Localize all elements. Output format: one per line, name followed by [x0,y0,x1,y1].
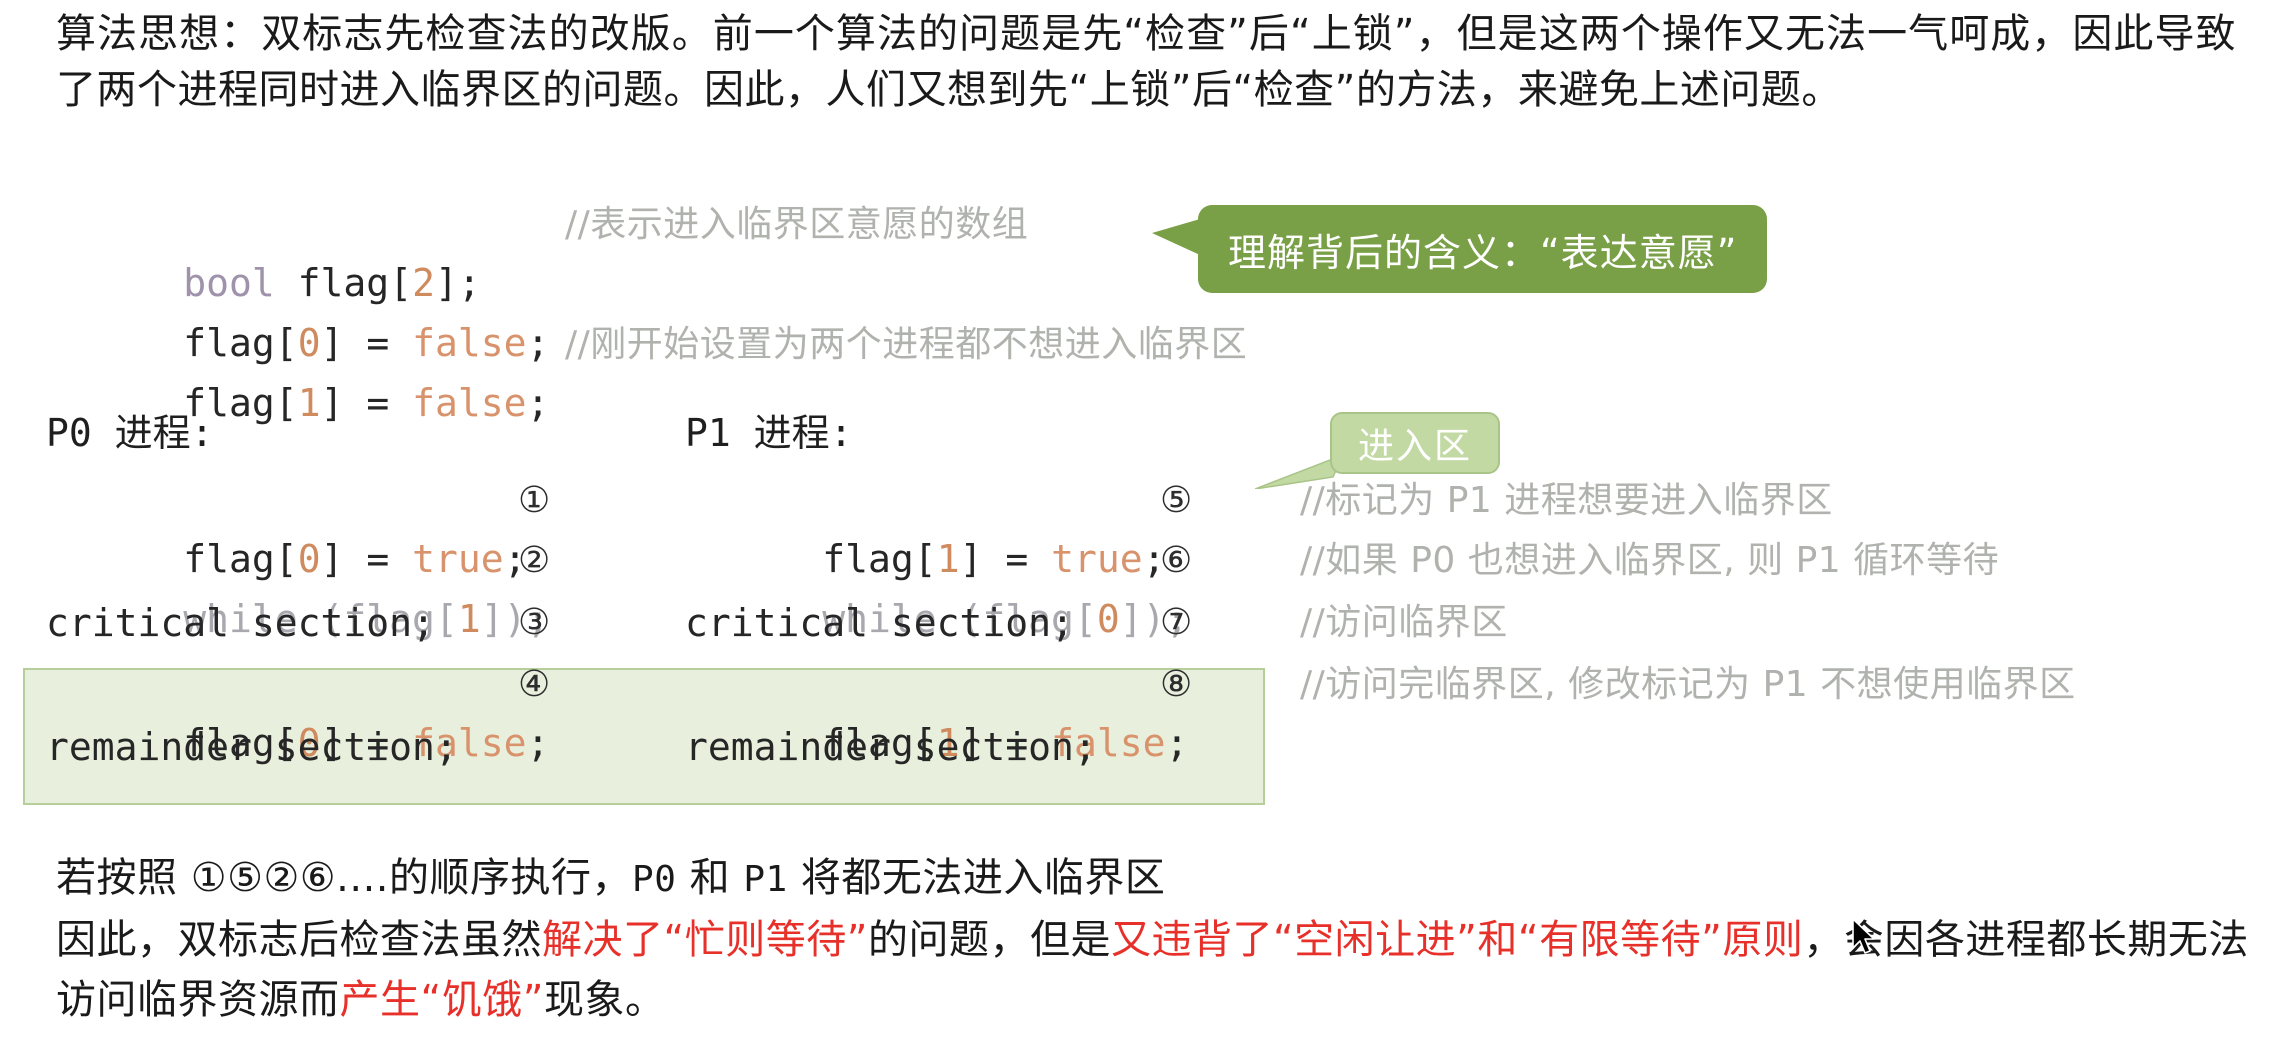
code-token: critical section; [46,594,435,652]
conclusion-line-2: 因此，双标志后检查法虽然解决了“忙则等待”的问题，但是又违背了“空闲让进”和“有… [56,910,2256,1030]
callout-meaning: 理解背后的含义：“表达意愿” [1198,205,1767,293]
intro-paragraph: 算法思想：双标志先检查法的改版。前一个算法的问题是先“检查”后“上锁”，但是这两… [56,6,2236,118]
step-number: ④ [518,656,550,714]
step-number: ① [518,472,550,530]
text-fragment: 和 [676,855,743,901]
conclusion-line-1: 若按照 ①⑤②⑥....的顺序执行，P0 和 P1 将都无法进入临界区 [56,848,2256,910]
code-row: critical section; ③ critical section; ⑦ … [0,594,2291,652]
text-fragment: 若按照 [56,855,191,901]
code-token: remainder section; [685,718,1097,776]
code-token: critical section; [685,594,1074,652]
code-comment: //如果 P0 也想进入临界区, 则 P1 循环等待 [1300,532,1999,590]
code-row: flag[0] = false; ④ flag[1] = false; ⑧ //… [0,656,2291,714]
text-fragment: 现象。 [544,977,666,1023]
code-block: bool flag[2]; //表示进入临界区意愿的数组 flag[0] = f… [0,196,2291,806]
text-fragment: 因此，双标志后检查法虽然 [56,917,542,963]
callout-tail-left-icon [1152,219,1200,255]
code-comment: //标记为 P1 进程想要进入临界区 [1300,472,1833,530]
step-number: ⑥ [1160,532,1192,590]
step-number: ③ [518,594,550,652]
execution-sequence: ①⑤②⑥ [191,855,336,901]
text-fragment: 将都无法进入临界区 [788,855,1166,901]
code-comment: //访问临界区 [1300,594,1508,652]
text-fragment: ....的顺序执行， [336,855,632,901]
step-number: ② [518,532,550,590]
code-token: remainder section; [46,718,458,776]
code-line-init-1: flag[1] = false; //刚开始设置为两个进程都不想进入临界区 [0,316,2291,374]
comment-init: //刚开始设置为两个进程都不想进入临界区 [565,316,1247,374]
conclusion-text: 若按照 ①⑤②⑥....的顺序执行，P0 和 P1 将都无法进入临界区 因此，双… [56,848,2256,1030]
callout-entry-section: 进入区 [1330,412,1500,474]
text-fragment: 的问题，但是 [868,917,1111,963]
comment-declaration: //表示进入临界区意愿的数组 [565,196,1028,254]
highlight-violated-principles: 又违背了“空闲让进”和“有限等待”原则 [1111,917,1803,963]
callout-meaning-label: 理解背后的含义：“表达意愿” [1228,222,1737,277]
step-number: ⑦ [1160,594,1192,652]
step-number: ⑤ [1160,472,1192,530]
process-label-p0: P0 [632,859,676,900]
process-header-p0: P0 进程: [46,404,214,462]
step-number: ⑧ [1160,656,1192,714]
callout-entry-label: 进入区 [1358,417,1472,469]
code-row: remainder section; remainder section; [0,718,2291,776]
highlight-starvation: 产生“饥饿” [340,977,544,1023]
code-row: while (flag[1]); ② while (flag[0]); ⑥ //… [0,532,2291,590]
highlight-solved-busy-wait: 解决了“忙则等待” [542,917,868,963]
code-line-init-0: flag[0] = false; [0,256,2291,314]
code-line-declaration: bool flag[2]; //表示进入临界区意愿的数组 [0,196,2291,254]
process-label-p1: P1 [743,859,787,900]
code-row: flag[0] = true; ① flag[1] = true; ⑤ //标记… [0,472,2291,530]
process-headers: P0 进程: P1 进程: [0,404,2291,462]
process-header-p1: P1 进程: [685,404,853,462]
code-comment: //访问完临界区, 修改标记为 P1 不想使用临界区 [1300,656,2076,714]
